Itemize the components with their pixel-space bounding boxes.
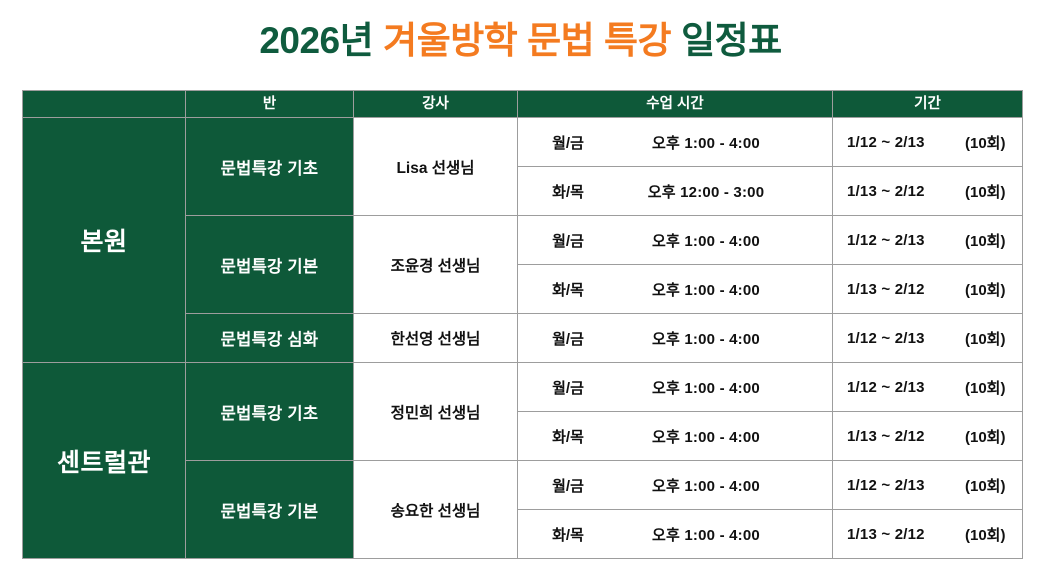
- table-row: 센트럴관문법특강 기초정민희 선생님월/금오후 1:00 - 4:001/12 …: [23, 363, 1023, 412]
- class-name-cell: 문법특강 기본: [186, 461, 354, 559]
- period-range: 1/12 ~ 2/13: [847, 232, 965, 249]
- class-days: 월/금: [518, 230, 618, 251]
- class-hours: 오후 1:00 - 4:00: [618, 426, 832, 447]
- schedule-table-wrapper: 반 강사 수업 시간 기간 본원문법특강 기초Lisa 선생님월/금오후 1:0…: [22, 90, 1022, 559]
- class-days: 화/목: [518, 524, 618, 545]
- period-cell: 1/12 ~ 2/13(10회): [833, 363, 1023, 412]
- title-year: 2026년: [259, 20, 373, 61]
- class-days: 월/금: [518, 475, 618, 496]
- session-count: (10회): [965, 475, 1022, 496]
- column-header-time: 수업 시간: [518, 91, 833, 118]
- session-count: (10회): [965, 426, 1022, 447]
- period-cell: 1/13 ~ 2/12(10회): [833, 412, 1023, 461]
- class-days: 월/금: [518, 377, 618, 398]
- title-highlight: 겨울방학 문법 특강: [383, 20, 671, 61]
- class-days: 화/목: [518, 279, 618, 300]
- class-days: 화/목: [518, 181, 618, 202]
- column-header-teacher: 강사: [354, 91, 518, 118]
- class-days: 월/금: [518, 132, 618, 153]
- teacher-cell: 조윤경 선생님: [354, 216, 518, 314]
- class-time-cell: 월/금오후 1:00 - 4:00: [518, 461, 833, 510]
- teacher-cell: 송요한 선생님: [354, 461, 518, 559]
- period-range: 1/12 ~ 2/13: [847, 379, 965, 396]
- campus-cell: 본원: [23, 118, 186, 363]
- class-days: 월/금: [518, 328, 618, 349]
- page-title: 2026년겨울방학 문법 특강일정표: [0, 18, 1041, 64]
- class-days: 화/목: [518, 426, 618, 447]
- column-header-period: 기간: [833, 91, 1023, 118]
- period-range: 1/13 ~ 2/12: [847, 281, 965, 298]
- class-hours: 오후 1:00 - 4:00: [618, 230, 832, 251]
- period-range: 1/12 ~ 2/13: [847, 477, 965, 494]
- teacher-cell: 정민희 선생님: [354, 363, 518, 461]
- class-hours: 오후 12:00 - 3:00: [618, 181, 832, 202]
- session-count: (10회): [965, 279, 1022, 300]
- class-name-cell: 문법특강 기초: [186, 118, 354, 216]
- class-hours: 오후 1:00 - 4:00: [618, 475, 832, 496]
- class-time-cell: 화/목오후 1:00 - 4:00: [518, 412, 833, 461]
- class-time-cell: 화/목오후 1:00 - 4:00: [518, 265, 833, 314]
- table-body: 본원문법특강 기초Lisa 선생님월/금오후 1:00 - 4:001/12 ~…: [23, 118, 1023, 559]
- class-hours: 오후 1:00 - 4:00: [618, 328, 832, 349]
- campus-cell: 센트럴관: [23, 363, 186, 559]
- class-hours: 오후 1:00 - 4:00: [618, 377, 832, 398]
- teacher-cell: 한선영 선생님: [354, 314, 518, 363]
- column-header-campus: [23, 91, 186, 118]
- period-range: 1/12 ~ 2/13: [847, 330, 965, 347]
- period-cell: 1/12 ~ 2/13(10회): [833, 216, 1023, 265]
- class-time-cell: 월/금오후 1:00 - 4:00: [518, 363, 833, 412]
- period-cell: 1/12 ~ 2/13(10회): [833, 314, 1023, 363]
- schedule-page: 2026년겨울방학 문법 특강일정표 반 강사 수업 시간 기간 본원문법특강 …: [0, 0, 1041, 587]
- teacher-cell: Lisa 선생님: [354, 118, 518, 216]
- period-cell: 1/13 ~ 2/12(10회): [833, 510, 1023, 559]
- session-count: (10회): [965, 328, 1022, 349]
- period-range: 1/13 ~ 2/12: [847, 183, 965, 200]
- class-time-cell: 월/금오후 1:00 - 4:00: [518, 216, 833, 265]
- session-count: (10회): [965, 230, 1022, 251]
- class-time-cell: 화/목오후 1:00 - 4:00: [518, 510, 833, 559]
- class-time-cell: 월/금오후 1:00 - 4:00: [518, 314, 833, 363]
- session-count: (10회): [965, 524, 1022, 545]
- column-header-class: 반: [186, 91, 354, 118]
- class-time-cell: 월/금오후 1:00 - 4:00: [518, 118, 833, 167]
- period-cell: 1/12 ~ 2/13(10회): [833, 118, 1023, 167]
- header-row: 반 강사 수업 시간 기간: [23, 91, 1023, 118]
- period-cell: 1/13 ~ 2/12(10회): [833, 167, 1023, 216]
- schedule-table: 반 강사 수업 시간 기간 본원문법특강 기초Lisa 선생님월/금오후 1:0…: [22, 90, 1023, 559]
- class-name-cell: 문법특강 심화: [186, 314, 354, 363]
- period-cell: 1/12 ~ 2/13(10회): [833, 461, 1023, 510]
- class-name-cell: 문법특강 기초: [186, 363, 354, 461]
- session-count: (10회): [965, 181, 1022, 202]
- class-time-cell: 화/목오후 12:00 - 3:00: [518, 167, 833, 216]
- session-count: (10회): [965, 132, 1022, 153]
- class-name-cell: 문법특강 기본: [186, 216, 354, 314]
- period-range: 1/12 ~ 2/13: [847, 134, 965, 151]
- class-hours: 오후 1:00 - 4:00: [618, 279, 832, 300]
- table-row: 본원문법특강 기초Lisa 선생님월/금오후 1:00 - 4:001/12 ~…: [23, 118, 1023, 167]
- table-header: 반 강사 수업 시간 기간: [23, 91, 1023, 118]
- period-range: 1/13 ~ 2/12: [847, 526, 965, 543]
- period-cell: 1/13 ~ 2/12(10회): [833, 265, 1023, 314]
- class-hours: 오후 1:00 - 4:00: [618, 132, 832, 153]
- title-suffix: 일정표: [681, 20, 782, 61]
- session-count: (10회): [965, 377, 1022, 398]
- class-hours: 오후 1:00 - 4:00: [618, 524, 832, 545]
- period-range: 1/13 ~ 2/12: [847, 428, 965, 445]
